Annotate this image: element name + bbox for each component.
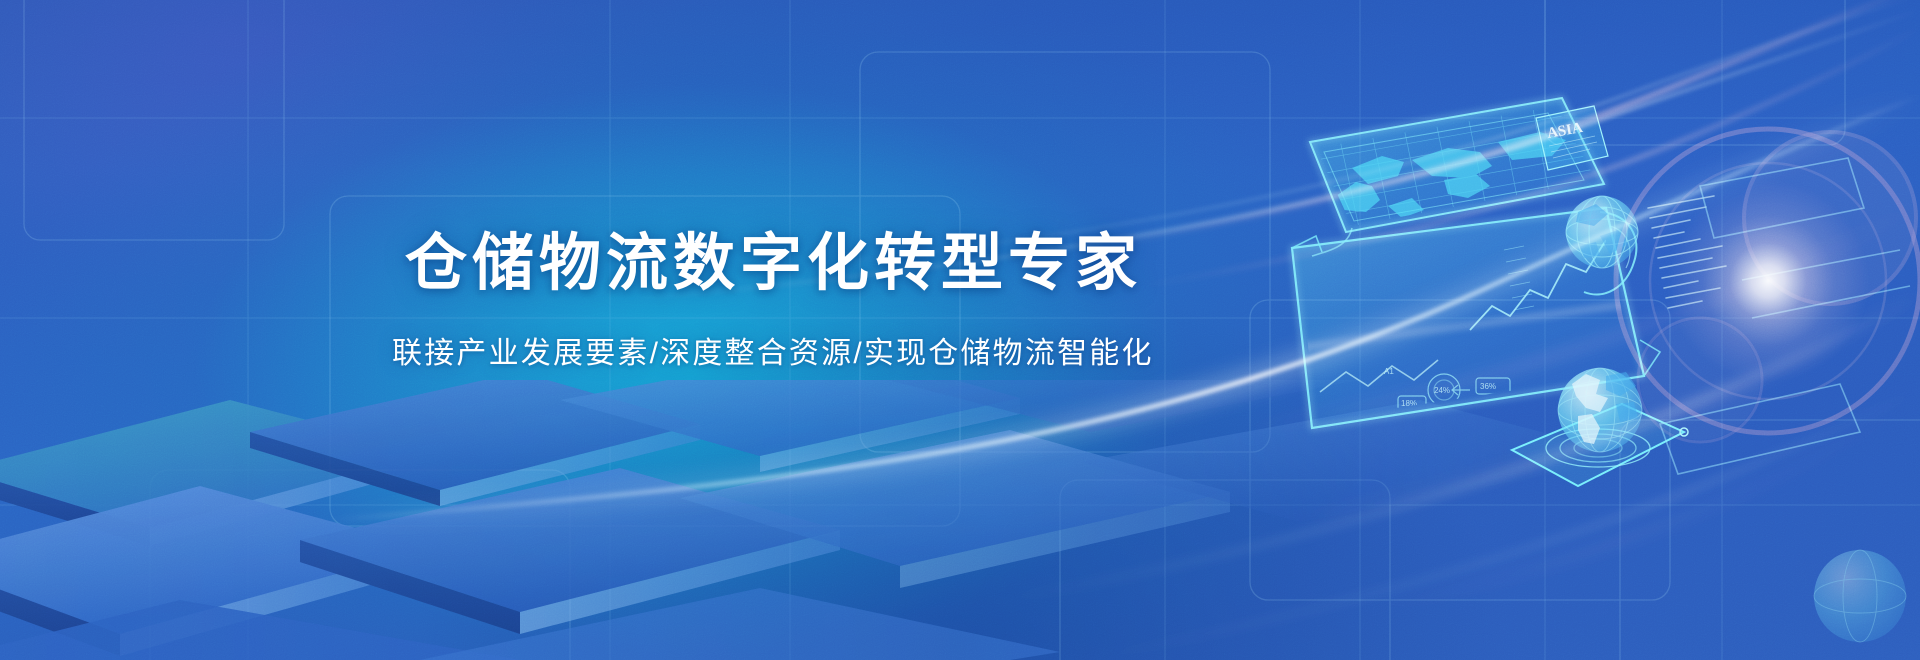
page-subtitle: 联接产业发展要素/深度整合资源/实现仓储物流智能化 bbox=[392, 339, 1154, 369]
page-title: 仓储物流数字化转型专家 bbox=[405, 233, 1142, 295]
banner-copy: 仓储物流数字化转型专家 联接产业发展要素/深度整合资源/实现仓储物流智能化 bbox=[0, 0, 1920, 660]
hero-banner: ASIA bbox=[0, 0, 1920, 660]
